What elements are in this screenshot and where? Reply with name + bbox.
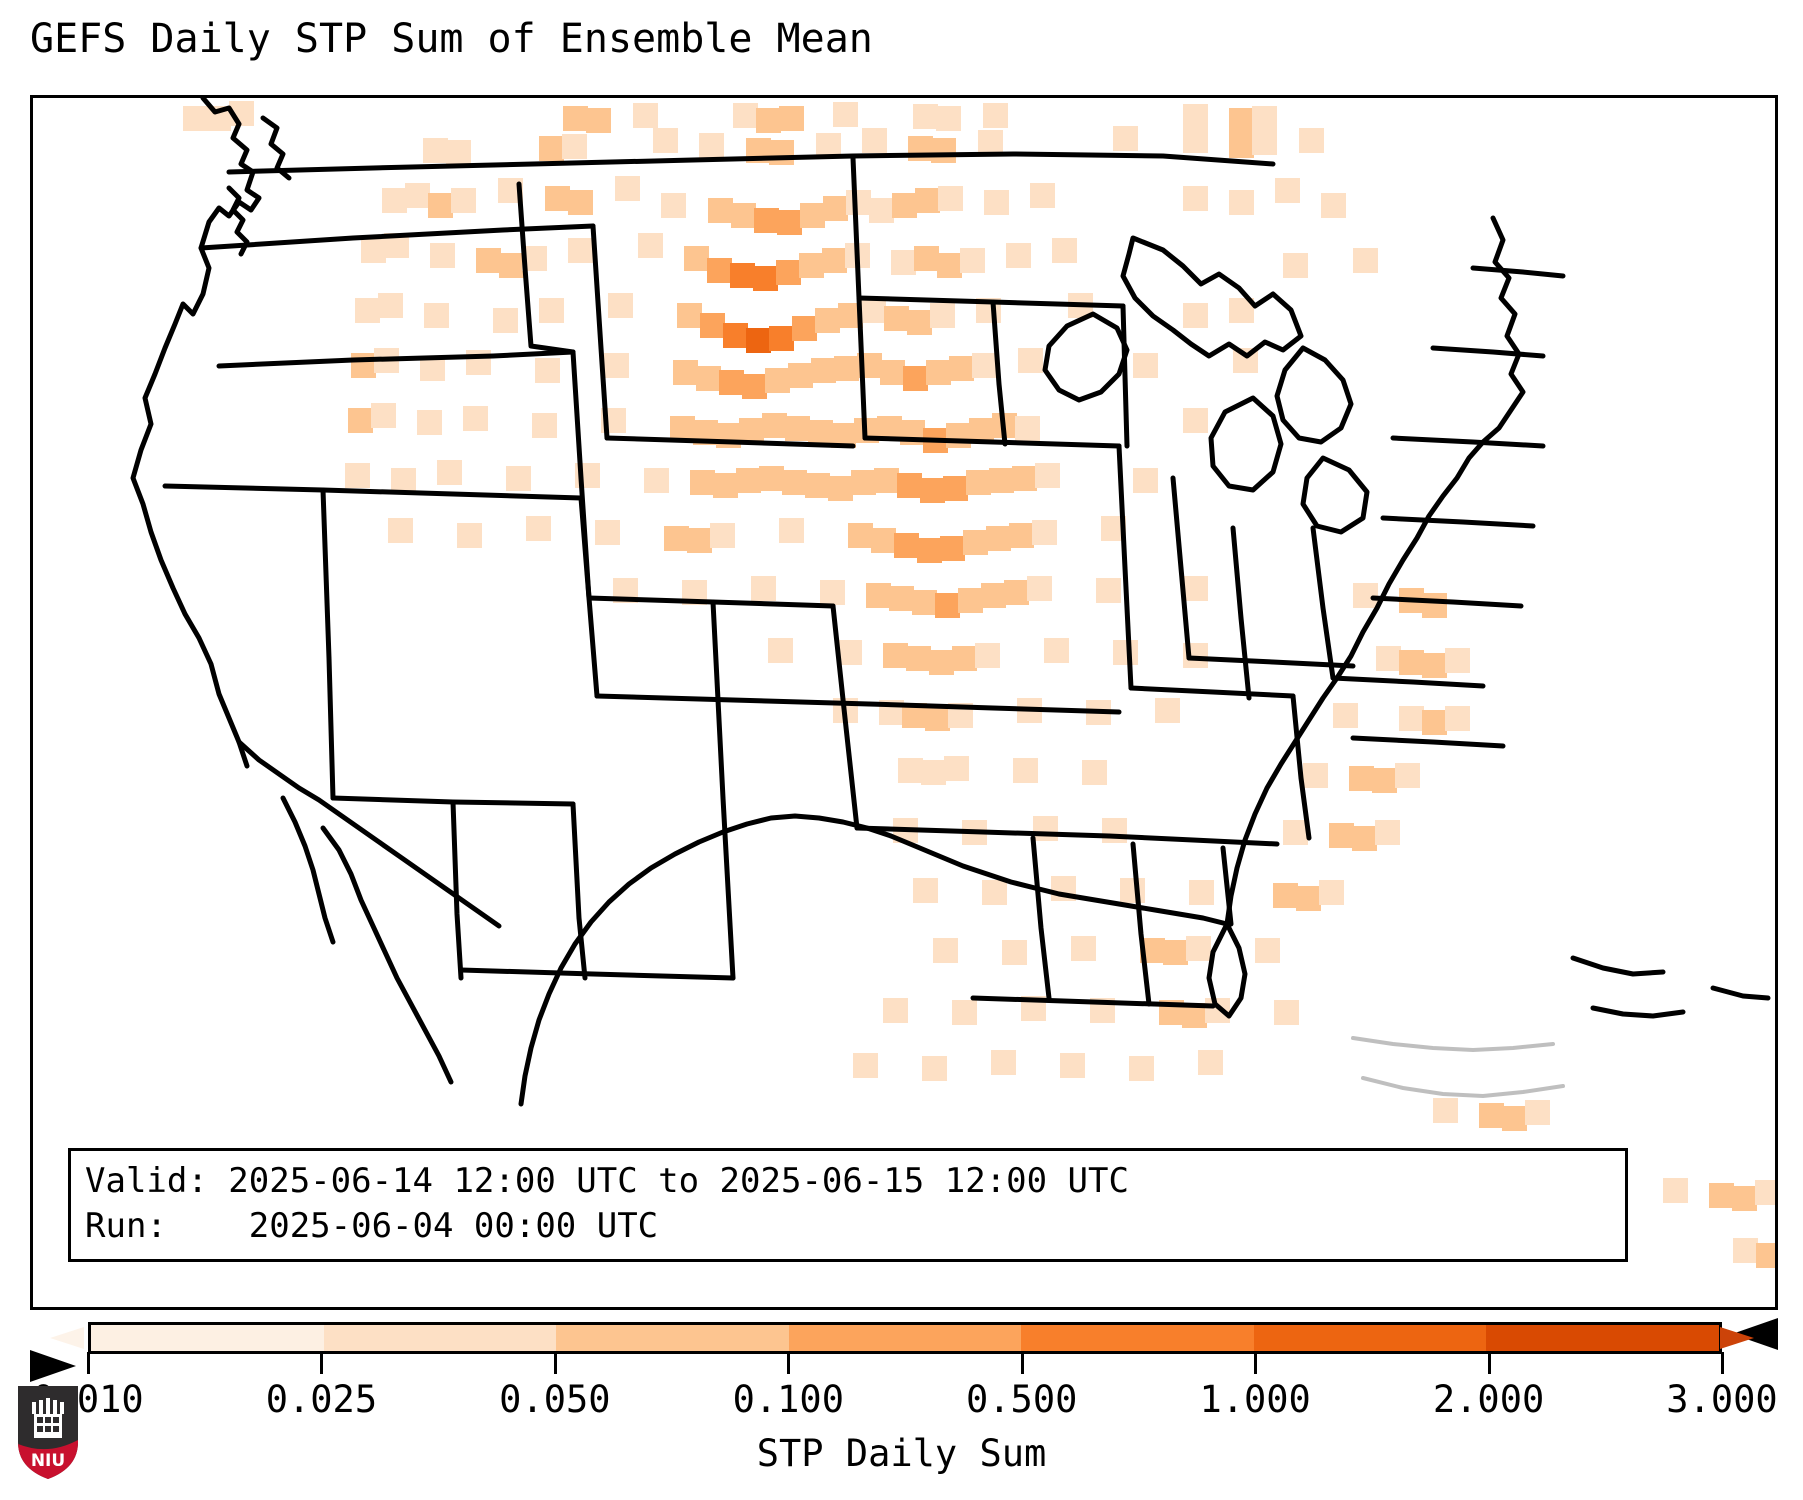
- colorbar-tick-marks: [0, 1352, 1803, 1378]
- tick-label-6: 2.000: [1433, 1378, 1544, 1421]
- colorbar-band-1: [324, 1325, 557, 1351]
- colorbar-band-0: [91, 1325, 324, 1351]
- page-title: GEFS Daily STP Sum of Ensemble Mean: [30, 16, 873, 62]
- tick-label-3: 0.100: [733, 1378, 844, 1421]
- colorbar-band-3: [789, 1325, 1022, 1351]
- colorbar-band-4: [1021, 1325, 1254, 1351]
- tick-label-5: 1.000: [1199, 1378, 1310, 1421]
- colorbar-tick-labels: 0.0100.0250.0500.1000.5001.0002.0003.000: [0, 1378, 1803, 1426]
- tick-mark-4: [1021, 1352, 1024, 1374]
- colorbar-band-5: [1254, 1325, 1487, 1351]
- tick-label-4: 0.500: [966, 1378, 1077, 1421]
- valid-time-text: Valid: 2025-06-14 12:00 UTC to 2025-06-1…: [85, 1159, 1611, 1204]
- colorbar-band-2: [556, 1325, 789, 1351]
- run-time-text: Run: 2025-06-04 00:00 UTC: [85, 1204, 1611, 1249]
- niu-logo-text: NIU: [31, 1451, 65, 1471]
- niu-logo: NIU: [14, 1382, 82, 1482]
- tick-label-7: 3.000: [1666, 1378, 1777, 1421]
- tick-mark-7: [1721, 1352, 1724, 1374]
- tick-mark-0: [87, 1352, 90, 1374]
- tick-mark-3: [787, 1352, 790, 1374]
- tick-mark-5: [1254, 1352, 1257, 1374]
- tick-mark-2: [554, 1352, 557, 1374]
- geography-layer: [33, 98, 1775, 1307]
- colorbar-label: STP Daily Sum: [0, 1432, 1803, 1475]
- annotation-box: Valid: 2025-06-14 12:00 UTC to 2025-06-1…: [68, 1148, 1628, 1262]
- map-panel: Valid: 2025-06-14 12:00 UTC to 2025-06-1…: [30, 95, 1778, 1310]
- tick-mark-6: [1488, 1352, 1491, 1374]
- colorbar-extend-min-fill: [50, 1327, 84, 1349]
- tick-label-2: 0.050: [499, 1378, 610, 1421]
- tick-mark-1: [320, 1352, 323, 1374]
- tick-label-1: 0.025: [266, 1378, 377, 1421]
- figure-root: GEFS Daily STP Sum of Ensemble Mean: [0, 0, 1803, 1500]
- colorbar-band-6: [1486, 1325, 1719, 1351]
- colorbar-extend-max-fill: [1720, 1327, 1754, 1349]
- colorbar-bands: [88, 1322, 1722, 1354]
